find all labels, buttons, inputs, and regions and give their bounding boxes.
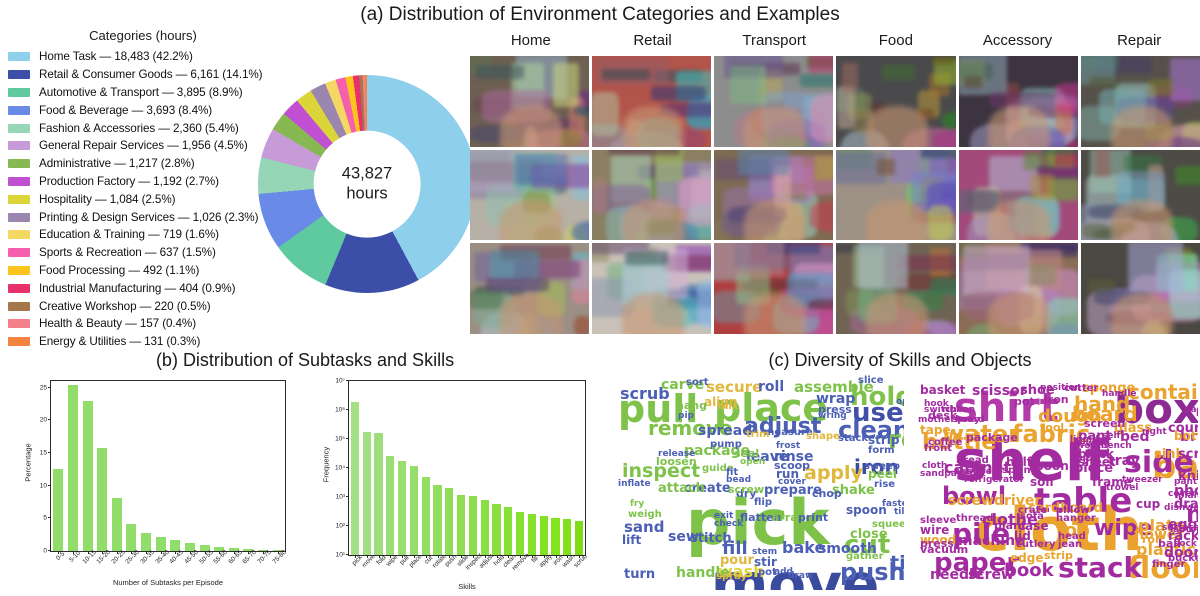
photo-texture — [1031, 174, 1054, 200]
photo-texture — [491, 250, 538, 278]
photo-texture — [877, 159, 896, 175]
skills-axes: pickmovefoldwipepullplacecutrotatepushsl… — [348, 380, 586, 556]
photo-texture — [858, 243, 908, 289]
wordcloud-word: right — [1142, 428, 1167, 437]
legend-item: Production Factory — 1,192 (2.7%) — [8, 173, 278, 191]
photo-texture — [515, 154, 567, 185]
wordcloud-word: sewing — [1074, 440, 1110, 449]
photo-texture — [476, 65, 524, 79]
wordcloud-word: tool — [1040, 422, 1064, 433]
x-tick-label: 50-55 — [198, 549, 215, 566]
wordcloud-word: cover — [1168, 490, 1196, 499]
wordcloud-word: sock — [1174, 540, 1197, 549]
legend-item: Food Processing — 492 (1.1%) — [8, 262, 278, 280]
y-tick-mark — [346, 467, 349, 468]
y-tick-label: 15 — [40, 449, 51, 456]
y-tick-label: 10² — [336, 523, 349, 530]
photo-texture — [738, 150, 788, 176]
wordcloud-word: inflate — [618, 480, 651, 489]
photo-thumbnail — [470, 243, 589, 334]
hand-region — [866, 293, 928, 334]
photo-texture — [625, 251, 669, 265]
legend-item: Printing & Design Services — 1,026 (2.3%… — [8, 208, 278, 226]
photo-texture — [602, 69, 650, 80]
bar — [516, 512, 524, 555]
wordcloud-word: apply — [804, 464, 863, 483]
wordcloud-word: squeeze — [872, 520, 904, 530]
legend-swatch-icon — [8, 70, 30, 79]
photo-thumbnail — [714, 243, 833, 334]
photo-thumbnail — [470, 150, 589, 241]
photo-thumbnail — [592, 56, 711, 147]
wordcloud-word: sweep — [864, 462, 900, 472]
wordcloud-word: self — [1102, 432, 1120, 441]
legend-item-label: Fashion & Accessories — 2,360 (5.4%) — [39, 122, 239, 135]
legend-swatch-icon — [8, 177, 30, 186]
wordcloud-word: frost — [776, 442, 800, 451]
photo-texture — [1149, 79, 1173, 95]
wordcloud-word: crate — [1018, 506, 1047, 516]
wordcloud-word: pantry — [1174, 478, 1198, 487]
legend-item-label: Home Task — 18,483 (42.2%) — [39, 50, 193, 63]
wordcloud-word: weigh — [628, 510, 662, 520]
hand-region — [622, 200, 684, 241]
photo-column-header: Home — [470, 32, 592, 56]
wordcloud-word: head — [1058, 532, 1086, 542]
x-tick-label: 5-10 — [68, 550, 82, 564]
bar — [374, 433, 382, 555]
wordcloud-word: attach — [658, 482, 705, 495]
wordcloud-word: position — [1040, 384, 1081, 393]
wordcloud-word: spread — [698, 424, 752, 438]
bar — [410, 466, 418, 555]
wordcloud-word: flap — [1070, 454, 1089, 463]
category-donut-chart: 43,827 hours — [258, 75, 476, 293]
y-tick-label: 0 — [43, 548, 51, 555]
photo-texture — [553, 63, 579, 106]
legend-swatch-icon — [8, 319, 30, 328]
wordcloud-word: open — [740, 458, 765, 467]
bar — [481, 500, 489, 555]
legend-item-label: Automotive & Transport — 3,895 (8.9%) — [39, 86, 243, 99]
subtasks-ylabel: Percentage — [24, 431, 33, 495]
legend-swatch-icon — [8, 141, 30, 150]
photo-texture — [927, 205, 953, 240]
subtasks-xlabel: Number of Subtasks per Episode — [50, 578, 286, 587]
wordcloud-word: rise — [874, 480, 895, 490]
wordcloud-word: sleeve — [920, 516, 956, 526]
photo-texture — [730, 65, 766, 104]
wordcloud-word: secure — [706, 380, 762, 395]
photo-texture — [470, 289, 503, 309]
legend-title: Categories (hours) — [8, 28, 278, 43]
photo-texture — [930, 278, 956, 295]
y-tick-label: 25 — [40, 384, 51, 391]
wordcloud-word: basket — [920, 384, 965, 396]
bar — [433, 485, 441, 555]
x-tick-label: 75-80 — [271, 549, 288, 566]
bar — [422, 477, 430, 555]
x-tick-label: fold — [375, 554, 387, 566]
photo-texture — [697, 279, 712, 329]
hand-region — [988, 293, 1050, 334]
legend-item-label: Food & Beverage — 3,693 (8.4%) — [39, 104, 212, 117]
y-tick-mark — [48, 485, 51, 486]
wordcloud-word: fasten — [882, 500, 904, 509]
legend-item-label: Sports & Recreation — 637 (1.5%) — [39, 246, 216, 259]
wordcloud-word: print — [798, 512, 828, 523]
wordcloud-word: stem — [752, 548, 777, 557]
bar — [504, 507, 512, 555]
legend-swatch-icon — [8, 266, 30, 275]
wordcloud-word: bead — [726, 476, 751, 485]
photo-thumbnail — [836, 56, 955, 147]
photo-texture — [810, 201, 833, 232]
wordcloud-word: stack — [838, 434, 868, 444]
legend-item-label: Retail & Consumer Goods — 6,161 (14.1%) — [39, 68, 262, 81]
bar — [563, 519, 571, 555]
bar — [445, 488, 453, 555]
photo-texture — [592, 92, 619, 136]
hand-region — [622, 106, 684, 147]
legend-swatch-icon — [8, 195, 30, 204]
subtasks-histogram: 0-55-1010-1515-2020-2525-3030-3535-4040-… — [14, 372, 299, 594]
y-tick-mark — [346, 525, 349, 526]
photo-texture — [1055, 83, 1078, 113]
wordcloud-word: pump — [710, 440, 742, 450]
legend-item-label: Printing & Design Services — 1,026 (2.3%… — [39, 211, 258, 224]
legend-swatch-icon — [8, 159, 30, 168]
photo-texture — [963, 245, 1030, 296]
wordcloud-word: release — [658, 450, 695, 459]
x-tick-label: 55-60 — [213, 549, 230, 566]
hand-region — [622, 293, 684, 334]
wordcloud-word: flip — [754, 498, 772, 508]
photo-thumbnail — [1081, 243, 1200, 334]
legend-item: Hospitality — 1,084 (2.5%) — [8, 190, 278, 208]
photo-texture — [470, 150, 519, 192]
bar — [540, 516, 548, 555]
photo-texture — [942, 112, 955, 129]
wordcloud-word: lift — [622, 534, 641, 546]
donut-total-unit: hours — [346, 184, 387, 204]
photo-texture — [1095, 150, 1110, 177]
photo-texture — [609, 150, 681, 155]
y-tick-mark — [48, 387, 51, 388]
wordcloud-word: soil — [1030, 476, 1054, 488]
y-tick-mark — [346, 496, 349, 497]
skills-wordcloud: pickmovepullplacewipefoldholdusecleanrot… — [606, 372, 904, 590]
y-tick-mark — [346, 438, 349, 439]
photo-texture — [882, 65, 915, 80]
photo-column-header: Retail — [592, 32, 714, 56]
wordcloud-word: roll — [758, 380, 784, 394]
legend-swatch-icon — [8, 52, 30, 61]
category-legend: Categories (hours) Home Task — 18,483 (4… — [8, 28, 278, 351]
photo-column-headers: HomeRetailTransportFoodAccessoryRepair — [470, 32, 1200, 56]
x-tick-label: 20-25 — [110, 549, 127, 566]
y-tick-mark — [346, 554, 349, 555]
hand-region — [1111, 293, 1173, 334]
legend-item-label: Creative Workshop — 220 (0.5%) — [39, 300, 211, 313]
wordcloud-word: cover — [778, 478, 806, 487]
legend-item: Retail & Consumer Goods — 6,161 (14.1%) — [8, 66, 278, 84]
photo-texture — [921, 150, 956, 158]
photo-texture — [714, 243, 783, 276]
y-tick-mark — [48, 550, 51, 551]
photo-texture — [964, 76, 982, 88]
wordcloud-word: press — [920, 538, 954, 549]
x-tick-label: 0-5 — [55, 550, 66, 561]
hand-region — [500, 106, 562, 147]
photo-thumbnail — [592, 150, 711, 241]
figure-root: (a) Distribution of Environment Categori… — [0, 0, 1200, 596]
wordcloud-word: tape — [920, 424, 951, 436]
photo-texture — [574, 106, 589, 117]
wordcloud-word: chop — [812, 488, 842, 499]
panel-a-title: (a) Distribution of Environment Categori… — [0, 4, 1200, 26]
photo-thumbnail — [959, 243, 1078, 334]
bar — [528, 514, 536, 555]
photo-thumbnail — [1081, 150, 1200, 241]
legend-item-label: Administrative — 1,217 (2.8%) — [39, 157, 195, 170]
legend-item: Education & Training — 719 (1.6%) — [8, 226, 278, 244]
wordcloud-word: thread — [956, 514, 994, 524]
wordcloud-word: tile — [894, 508, 904, 517]
wordcloud-word: handle — [1102, 390, 1137, 399]
photo-texture — [1170, 58, 1200, 100]
objects-wordcloud: clothshelfshirtboxtablebagsidefloorstack… — [906, 372, 1198, 590]
x-tick-label: 15-20 — [96, 549, 113, 566]
wordcloud-word: slice — [858, 376, 884, 386]
x-tick-label: 35-40 — [154, 549, 171, 566]
legend-item: Health & Beauty — 157 (0.4%) — [8, 315, 278, 333]
wordcloud-word: tighten — [890, 554, 904, 573]
legend-item: Administrative — 1,217 (2.8%) — [8, 155, 278, 173]
x-tick-label: 30-35 — [139, 549, 156, 566]
donut-total-number: 43,827 — [342, 164, 392, 184]
wordcloud-word: sort — [686, 378, 709, 388]
bar — [83, 401, 93, 551]
x-tick-label: 40-45 — [169, 549, 186, 566]
legend-swatch-icon — [8, 337, 30, 346]
hand-region — [866, 200, 928, 241]
legend-item-label: Production Factory — 1,192 (2.7%) — [39, 175, 219, 188]
hand-region — [744, 293, 806, 334]
hand-region — [1111, 200, 1173, 241]
legend-item: Sports & Recreation — 637 (1.5%) — [8, 244, 278, 262]
x-tick-label: scrub — [573, 553, 589, 569]
photo-texture — [486, 277, 550, 292]
y-tick-label: 5 — [43, 515, 51, 522]
x-tick-label: 10-15 — [81, 549, 98, 566]
legend-item-label: Health & Beauty — 157 (0.4%) — [39, 317, 196, 330]
photo-thumbnail — [836, 243, 955, 334]
photo-texture — [592, 177, 607, 214]
wordcloud-word: scoop — [774, 460, 810, 471]
legend-item: Food & Beverage — 3,693 (8.4%) — [8, 101, 278, 119]
bar — [457, 495, 465, 555]
photo-thumbnails — [470, 56, 1200, 334]
skills-ylabel: Frequency — [322, 435, 331, 495]
photo-texture — [1128, 243, 1184, 291]
hand-region — [500, 293, 562, 334]
wordcloud-word: form — [868, 446, 895, 456]
bar — [351, 402, 359, 555]
legend-item: Industrial Manufacturing — 404 (0.9%) — [8, 279, 278, 297]
wordcloud-word: fry — [630, 500, 644, 509]
photo-column-header: Repair — [1078, 32, 1200, 56]
photo-column-header: Food — [835, 32, 957, 56]
bar — [112, 498, 122, 551]
wordcloud-word: screw — [968, 568, 1014, 582]
legend-swatch-icon — [8, 248, 30, 257]
y-tick-label: 10⁶ — [335, 407, 349, 414]
bar — [97, 448, 107, 551]
y-tick-mark — [48, 452, 51, 453]
photo-thumbnail — [714, 56, 833, 147]
wordcloud-word: add — [774, 568, 793, 577]
wordcloud-word: wrapper — [954, 468, 996, 477]
bar — [363, 432, 371, 555]
photo-texture — [837, 86, 856, 129]
wordcloud-word: cutlery — [1016, 540, 1056, 550]
wordcloud-word: cup — [1136, 498, 1160, 510]
legend-item: General Repair Services — 1,956 (4.5%) — [8, 137, 278, 155]
photo-thumbnail — [959, 56, 1078, 147]
photo-thumbnail — [959, 150, 1078, 241]
legend-swatch-icon — [8, 106, 30, 115]
photo-texture — [651, 86, 706, 102]
x-tick-label: 60-65 — [227, 549, 244, 566]
wordcloud-word: pot — [1014, 396, 1035, 407]
legend-item-label: Industrial Manufacturing — 404 (0.9%) — [39, 282, 235, 295]
wordcloud-word: scrub — [1178, 448, 1198, 461]
bar — [386, 456, 394, 556]
y-tick-mark — [346, 380, 349, 381]
photo-texture — [1082, 223, 1111, 239]
wordcloud-word: bread — [956, 456, 989, 466]
bar — [126, 524, 136, 551]
bar — [68, 385, 78, 551]
wordcloud-word: dishwasher — [1164, 504, 1198, 513]
wordcloud-word: front — [924, 444, 952, 454]
photo-column-header: Transport — [713, 32, 835, 56]
wordcloud-word: gather — [846, 552, 884, 562]
example-photo-grid: HomeRetailTransportFoodAccessoryRepair — [470, 32, 1200, 337]
wordcloud-word: turn — [624, 568, 655, 581]
wordcloud-word: edge — [1010, 552, 1043, 564]
x-tick-label: 70-75 — [256, 549, 273, 566]
legend-swatch-icon — [8, 213, 30, 222]
wordcloud-word: wring — [818, 412, 847, 421]
skills-frequency-chart: pickmovefoldwipepullplacecutrotatepushsl… — [308, 372, 598, 594]
wordcloud-word: container — [1128, 382, 1198, 402]
x-tick-label: 65-70 — [242, 549, 259, 566]
wordcloud-word: operate — [896, 398, 904, 407]
wordcloud-word: cloth — [922, 462, 947, 471]
photo-texture — [842, 63, 858, 93]
hand-region — [866, 106, 928, 147]
photo-texture — [800, 74, 834, 87]
bar — [469, 496, 477, 555]
wordcloud-word: hook — [924, 400, 949, 409]
wordcloud-word: pour — [720, 554, 754, 567]
bar — [398, 461, 406, 555]
legend-item: Creative Workshop — 220 (0.5%) — [8, 297, 278, 315]
wordcloud-word: mix — [718, 402, 738, 412]
wordcloud-word: trowel — [1106, 484, 1138, 493]
bar — [551, 518, 559, 555]
y-tick-label: 10¹ — [336, 552, 349, 559]
legend-item-label: Energy & Utilities — 131 (0.3%) — [39, 335, 200, 348]
wordcloud-word: package — [966, 432, 1018, 443]
legend-swatch-icon — [8, 230, 30, 239]
wordcloud-word: packaging — [1184, 406, 1198, 415]
x-tick-label: 45-50 — [183, 549, 200, 566]
legend-item-label: Hospitality — 1,084 (2.5%) — [39, 193, 175, 206]
panel-b-title: (b) Distribution of Subtasks and Skills — [10, 350, 600, 371]
wordcloud-word: spoon — [846, 504, 887, 516]
legend-item: Energy & Utilities — 131 (0.3%) — [8, 333, 278, 351]
x-tick-label: 25-30 — [125, 549, 142, 566]
wordcloud-word: pillow — [1056, 506, 1090, 516]
legend-item-label: Education & Training — 719 (1.6%) — [39, 228, 219, 241]
photo-column-header: Accessory — [957, 32, 1079, 56]
donut-center: 43,827 hours — [314, 131, 421, 238]
photo-thumbnail — [836, 150, 955, 241]
photo-texture — [1042, 150, 1078, 155]
photo-thumbnail — [1081, 56, 1200, 147]
photo-texture — [932, 56, 955, 65]
hand-region — [744, 106, 806, 147]
wordcloud-word: strip — [1044, 550, 1073, 561]
wordcloud-word: hang — [676, 400, 707, 411]
photo-texture — [574, 316, 589, 334]
y-tick-label: 10⁴ — [335, 465, 349, 472]
legend-item: Home Task — 18,483 (42.2%) — [8, 48, 278, 66]
wordcloud-word: spray — [952, 416, 980, 425]
y-tick-label: 10⁷ — [335, 378, 349, 385]
bar — [53, 469, 63, 551]
wordcloud-word: pip — [678, 412, 694, 421]
y-tick-mark — [48, 419, 51, 420]
wordcloud-word: spray — [716, 572, 747, 582]
y-tick-label: 10 — [40, 482, 51, 489]
skills-xlabel: Skills — [348, 582, 586, 591]
hand-region — [744, 200, 806, 241]
wordcloud-word: laptop — [1170, 526, 1198, 535]
bar — [492, 504, 500, 555]
y-tick-label: 10⁵ — [335, 436, 349, 443]
wordcloud-word: shape — [806, 432, 840, 442]
wordcloud-word: check — [714, 520, 743, 529]
photo-texture — [815, 156, 834, 179]
y-tick-label: 20 — [40, 417, 51, 424]
legend-item-label: General Repair Services — 1,956 (4.5%) — [39, 139, 248, 152]
legend-item-label: Food Processing — 492 (1.1%) — [39, 264, 199, 277]
photo-texture — [572, 221, 589, 240]
hand-region — [1111, 106, 1173, 147]
legend-swatch-icon — [8, 302, 30, 311]
photo-texture — [1090, 77, 1115, 88]
photo-thumbnail — [714, 150, 833, 241]
wordcloud-word: finger — [1152, 560, 1185, 570]
photo-thumbnail — [592, 243, 711, 334]
wordcloud-word: screw — [728, 484, 764, 495]
wordcloud-word: screen — [1084, 418, 1125, 429]
wordcloud-word: bottom — [1174, 430, 1198, 442]
